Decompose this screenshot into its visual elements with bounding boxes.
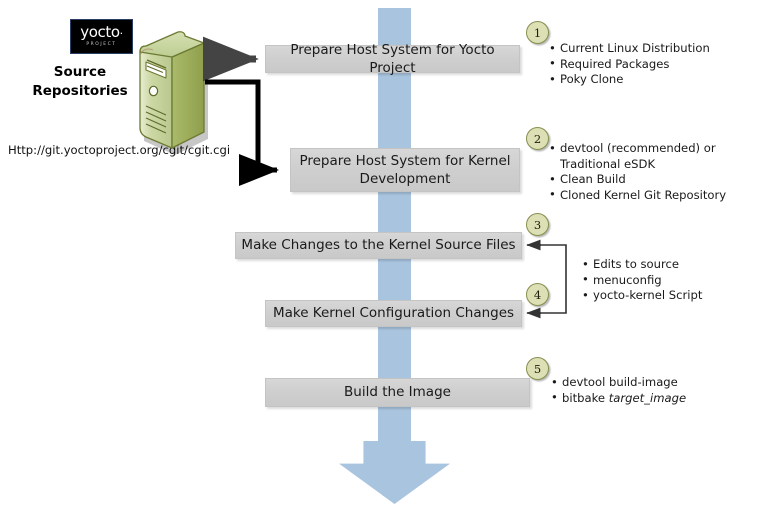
note-item: Required Packages (549, 57, 710, 73)
step-bubble-2[interactable]: 2 (526, 127, 549, 150)
notes-step-5: devtool build-image bitbake target_image (551, 375, 686, 406)
note-bitbake-target: target_image (609, 391, 686, 405)
note-item: Edits to source (582, 257, 702, 273)
note-item-bitbake: bitbake target_image (551, 391, 686, 407)
note-bitbake-command: bitbake (562, 391, 609, 405)
notes-step-1: Current Linux Distribution Required Pack… (549, 41, 710, 88)
step-bubble-3[interactable]: 3 (526, 213, 549, 236)
note-item: Current Linux Distribution (549, 41, 710, 57)
note-item: yocto-kernel Script (582, 288, 702, 304)
note-item: devtool (recommended) or (549, 141, 726, 157)
source-label-line-2: Repositories (20, 82, 140, 101)
step-bubble-4[interactable]: 4 (526, 283, 549, 306)
step-bubble-1[interactable]: 1 (526, 21, 549, 44)
source-repository-server-icon (140, 32, 208, 155)
process-box-make-kernel-config-changes[interactable]: Make Kernel Configuration Changes (265, 300, 522, 327)
process-box-3-label: Make Changes to the Kernel Source Files (241, 236, 515, 254)
process-box-make-kernel-source-changes[interactable]: Make Changes to the Kernel Source Files (235, 232, 522, 259)
yocto-project-logo: yocto· PROJECT (70, 19, 133, 54)
process-box-build-the-image[interactable]: Build the Image (265, 378, 530, 407)
yocto-logo-dot: · (120, 27, 123, 40)
note-item: Cloned Kernel Git Repository (549, 188, 726, 204)
process-box-1-label: Prepare Host System for Yocto Project (266, 41, 519, 77)
step-bubble-5[interactable]: 5 (526, 357, 549, 380)
process-box-2-label-line-1: Prepare Host System for Kernel (299, 152, 510, 170)
process-box-prepare-host-kernel[interactable]: Prepare Host System for Kernel Developme… (290, 148, 520, 192)
note-item-continuation: Traditional eSDK (549, 157, 726, 173)
yocto-logo-subtitle: PROJECT (86, 41, 116, 48)
flow-spine-arrowhead (339, 441, 450, 504)
note-item: menuconfig (582, 273, 702, 289)
process-box-4-label: Make Kernel Configuration Changes (273, 304, 514, 322)
source-repository-url: Http://git.yoctoproject.org/cgit/cgit.cg… (8, 143, 230, 157)
process-box-5-label: Build the Image (344, 383, 451, 401)
source-repositories-label: Source Repositories (20, 63, 140, 101)
yocto-logo-wordmark: yocto· (80, 25, 122, 41)
note-item: Clean Build (549, 172, 726, 188)
note-item: Poky Clone (549, 72, 710, 88)
diagram-canvas: yocto· PROJECT Source Repositories Http:… (0, 0, 769, 517)
source-label-line-1: Source (20, 63, 140, 82)
notes-step-3-4: Edits to source menuconfig yocto-kernel … (582, 257, 702, 304)
process-box-prepare-host-yocto[interactable]: Prepare Host System for Yocto Project (265, 45, 520, 73)
notes-step-2: devtool (recommended) or Traditional eSD… (549, 141, 726, 203)
note-item: devtool build-image (551, 375, 686, 391)
process-box-2-label-line-2: Development (360, 170, 451, 188)
